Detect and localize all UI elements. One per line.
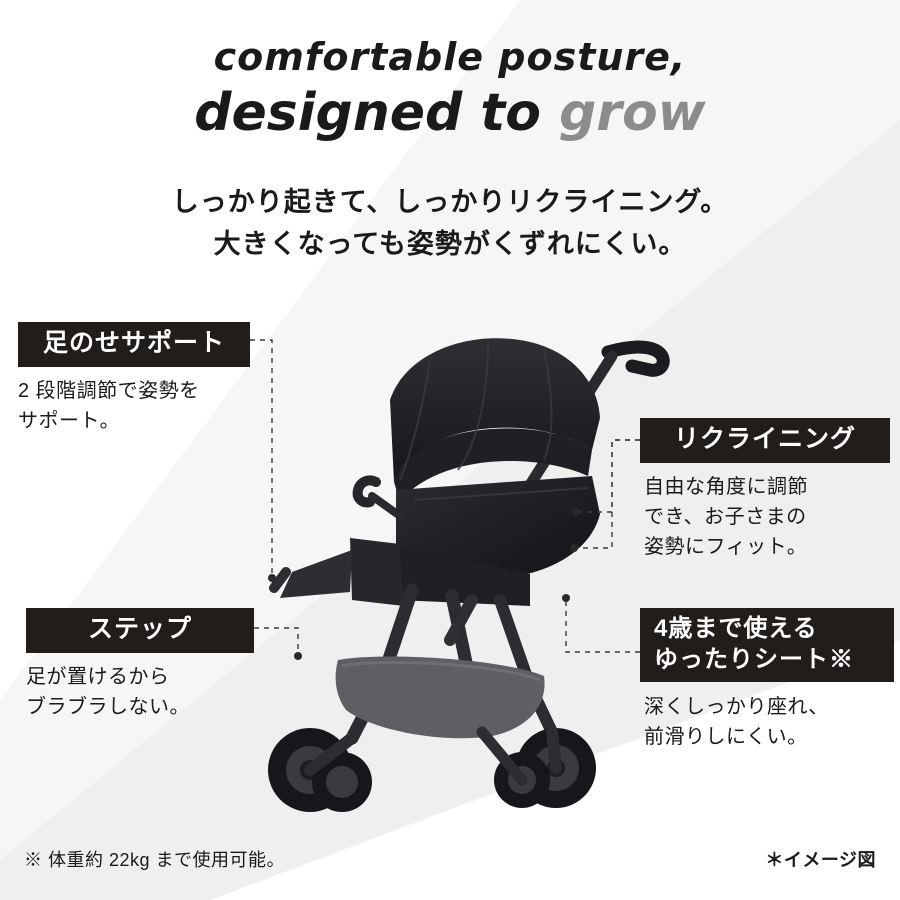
callout-body-seat: 深くしっかり座れ、 前滑りしにくい。 xyxy=(644,692,894,752)
headline-line-2: designed to grow xyxy=(0,84,900,144)
callout-body-step: 足が置けるから ブラブラしない。 xyxy=(26,662,276,722)
subheadline-line-2: 大きくなっても姿勢がくずれにくい。 xyxy=(0,224,900,266)
callout-label-step: ステップ xyxy=(26,608,254,653)
callout-label-footrest: 足のせサポート xyxy=(18,322,250,367)
product-feature-infographic: comfortable posture, designed to grow しっ… xyxy=(0,0,900,900)
subheadline: しっかり起きて、しっかりリクライニング。 大きくなっても姿勢がくずれにくい。 xyxy=(0,182,900,266)
headline-line-2-main: designed to xyxy=(194,83,559,143)
callout-label-recline: リクライニング xyxy=(640,418,890,463)
headline-line-1: comfortable posture, xyxy=(0,36,900,80)
callout-label-seat: 4歳まで使える ゆったりシート※ xyxy=(640,608,894,682)
callout-body-recline: 自由な角度に調節 でき、お子さまの 姿勢にフィット。 xyxy=(644,472,894,562)
subheadline-line-1: しっかり起きて、しっかりリクライニング。 xyxy=(0,182,900,224)
page-title: comfortable posture, designed to grow xyxy=(0,36,900,143)
footnote-right: ＊イメージ図 xyxy=(765,846,876,872)
stroller-illustration xyxy=(200,300,720,840)
headline-accent-word: grow xyxy=(559,83,706,143)
callout-body-footrest: 2 段階調節で姿勢を サポート。 xyxy=(18,376,278,436)
footnote-left: ※ 体重約 22kg まで使用可能。 xyxy=(24,846,285,872)
